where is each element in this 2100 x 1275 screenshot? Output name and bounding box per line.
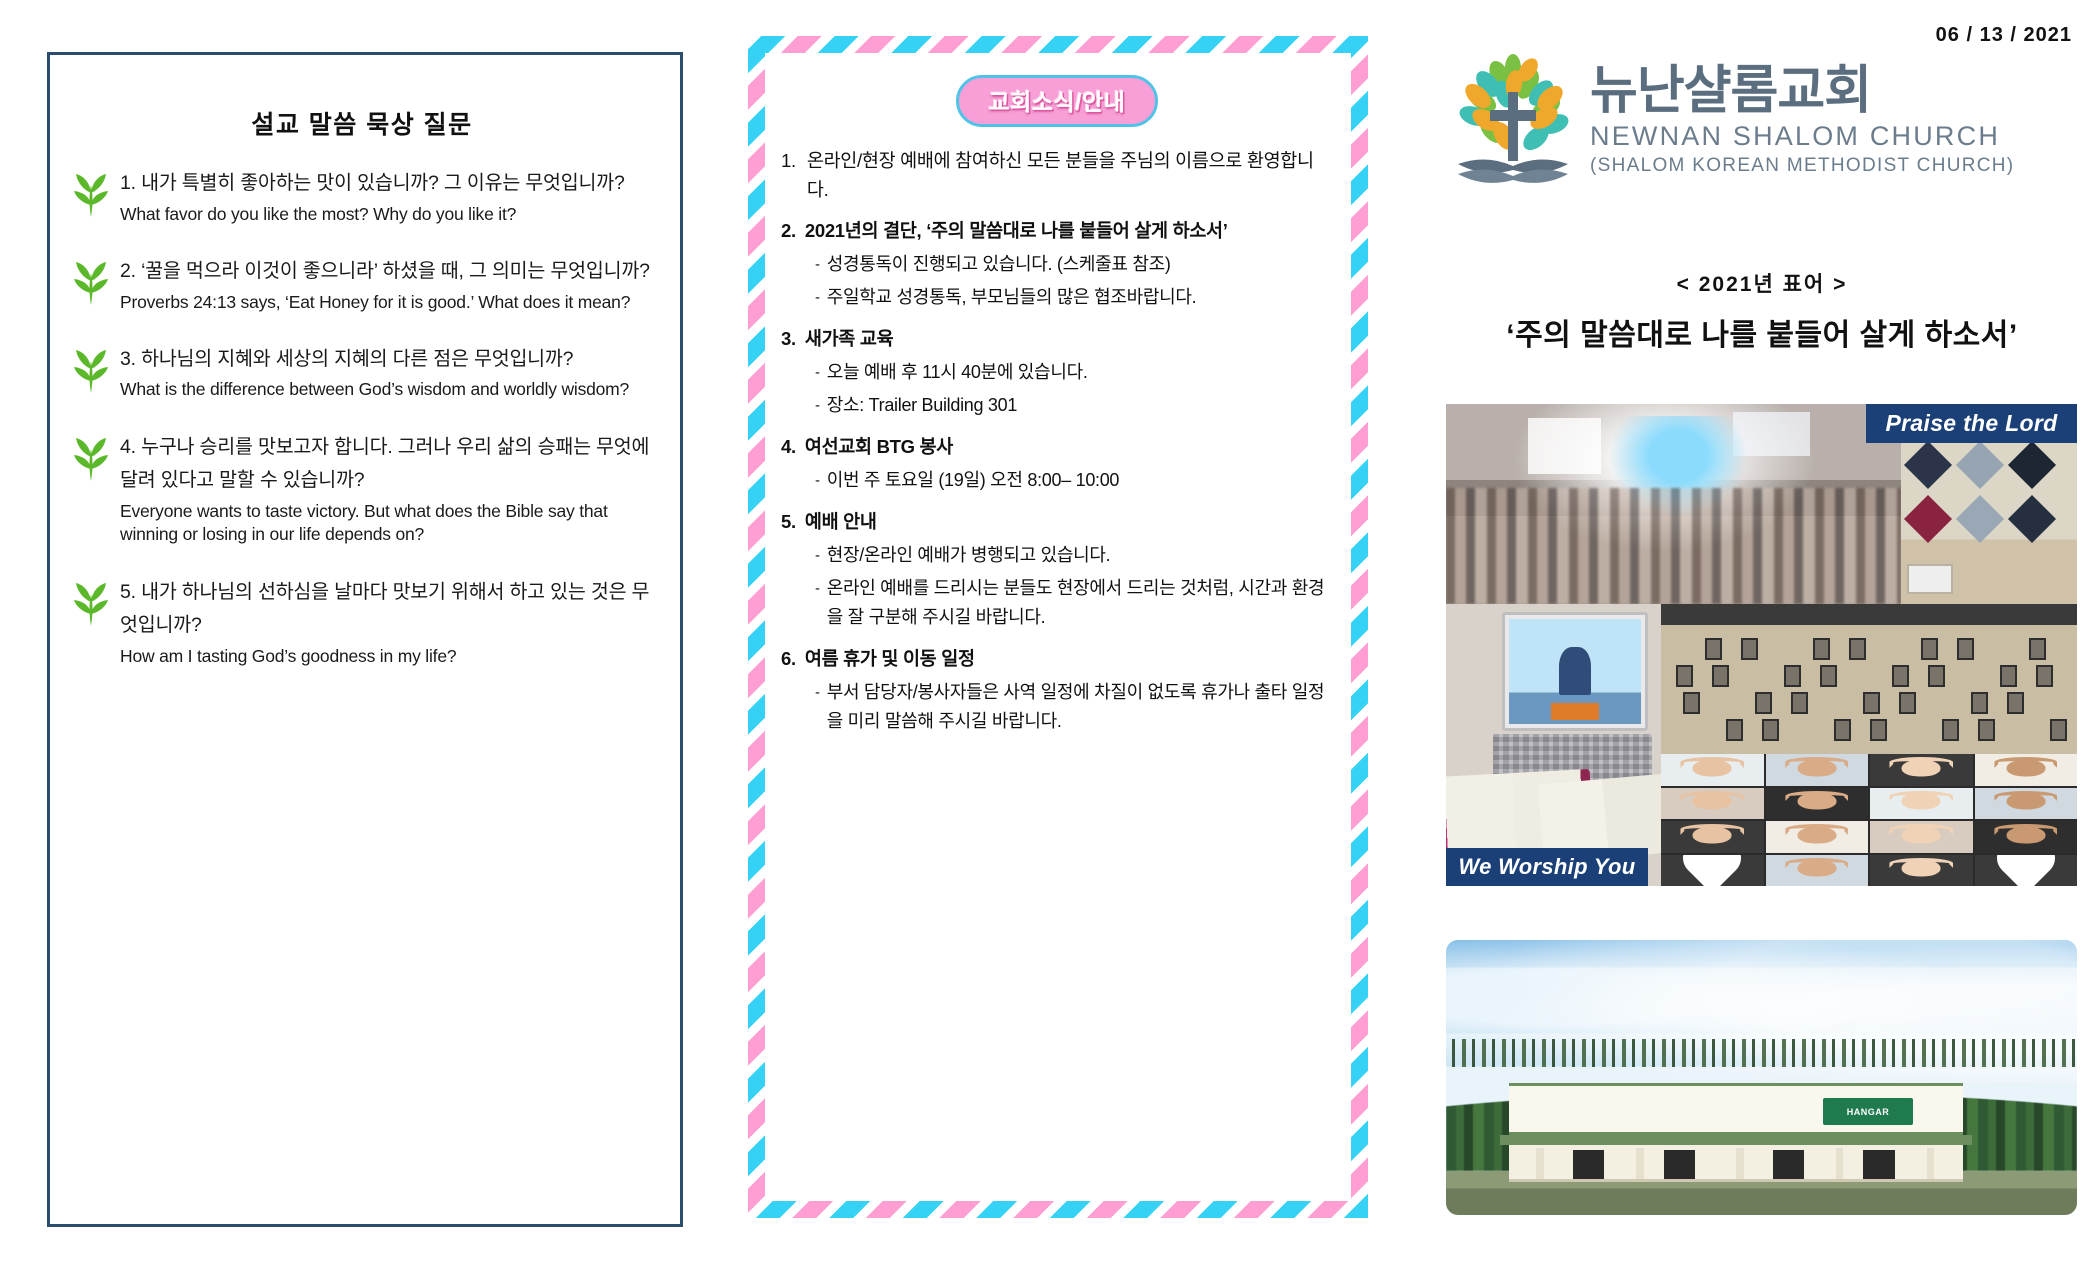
- church-logo-row: 뉴난샬롬교회 NEWNAN SHALOM CHURCH (SHALOM KORE…: [1442, 48, 2014, 190]
- folding-chair: [2036, 665, 2053, 687]
- announcement-subitem-text: 온라인 예배를 드리시는 분들도 현장에서 드리는 것처럼, 시간과 환경을 잘…: [827, 574, 1333, 632]
- question-en: Everyone wants to taste victory. But wha…: [120, 500, 654, 547]
- leaf-sprig-icon: [70, 343, 116, 393]
- question-body: 1. 내가 특별히 좋아하는 맛이 있습니까? 그 이유는 무엇입니까?What…: [116, 167, 654, 226]
- zoom-participant-tile: [1975, 754, 2078, 786]
- gym-wall-diamond: [2008, 441, 2056, 489]
- question-body: 5. 내가 하나님의 선하심을 날마다 맛보기 위해서 하고 있는 것은 무엇입…: [116, 576, 654, 669]
- announcement-heading: 6.여름 휴가 및 이동 일정: [781, 645, 1333, 674]
- zoom-participant-tile: [1975, 788, 2078, 820]
- question-ko: 2. ‘꿀을 먹으라 이것이 좋으니라’ 하셨을 때, 그 의미는 무엇입니까?: [120, 255, 654, 289]
- bulletin-page: 설교 말씀 묵상 질문 1. 내가 특별히 좋아하는 맛이 있습니까? 그 이유…: [0, 0, 2100, 1275]
- announcement-heading-text: 예배 안내: [805, 508, 1333, 537]
- leaf-sprig-icon: [70, 255, 116, 305]
- porch-post: [1736, 1148, 1743, 1179]
- porch-post: [1536, 1148, 1543, 1179]
- photo-gym-wall: [1901, 434, 2077, 604]
- folding-chair: [1863, 692, 1880, 714]
- dash-marker: -: [815, 541, 827, 570]
- participant-face: [2006, 793, 2045, 810]
- meditation-panel: 설교 말씀 묵상 질문 1. 내가 특별히 좋아하는 맛이 있습니까? 그 이유…: [47, 52, 683, 1227]
- folding-chair: [1892, 665, 1909, 687]
- building-door: [1863, 1150, 1895, 1179]
- meditation-title: 설교 말씀 묵상 질문: [70, 105, 654, 141]
- laptop-lid: [1502, 612, 1648, 730]
- zoom-participant-tile: [1870, 788, 1973, 820]
- zoom-participant-tile: [1661, 821, 1764, 853]
- announcement-number: 2.: [781, 217, 805, 246]
- meditation-question-list: 1. 내가 특별히 좋아하는 맛이 있습니까? 그 이유는 무엇입니까?What…: [70, 167, 654, 668]
- zoom-participant-tile: [1661, 754, 1764, 786]
- announcement-subitem-text: 현장/온라인 예배가 병행되고 있습니다.: [827, 541, 1333, 570]
- building-door: [1573, 1150, 1605, 1179]
- folding-chair: [1741, 638, 1758, 660]
- question-en: How am I tasting God’s goodness in my li…: [120, 645, 654, 668]
- meditation-question: 1. 내가 특별히 좋아하는 맛이 있습니까? 그 이유는 무엇입니까?What…: [70, 167, 654, 226]
- folding-chair: [1820, 665, 1837, 687]
- announcement-subitem: -장소: Trailer Building 301: [781, 391, 1333, 420]
- preacher-figure: [1559, 647, 1591, 695]
- question-body: 3. 하나님의 지혜와 세상의 지혜의 다른 점은 무엇입니까?What is …: [116, 343, 654, 402]
- announcement-subitem: -부서 담당자/봉사자들은 사역 일정에 차질이 없도록 휴가나 출타 일정을 …: [781, 678, 1333, 736]
- announcement-subitem: -주일학교 성경통독, 부모님들의 많은 협조바랍니다.: [781, 283, 1333, 312]
- question-ko: 1. 내가 특별히 좋아하는 맛이 있습니까? 그 이유는 무엇입니까?: [120, 167, 654, 201]
- leaf-sprig-icon: [70, 167, 116, 217]
- folding-chair: [1834, 719, 1851, 741]
- announcement-number: 6.: [781, 645, 805, 674]
- gym-wall-diamond: [2008, 495, 2056, 543]
- announcement-heading: 5.예배 안내: [781, 508, 1333, 537]
- photo-distanced-seating: [1661, 604, 2077, 754]
- folding-chair: [1813, 638, 1830, 660]
- participant-face: [1693, 826, 1732, 843]
- participant-face: [1902, 826, 1941, 843]
- leaf-sprig-icon: [70, 576, 116, 626]
- pulpit: [1551, 703, 1599, 720]
- participant-face: [1902, 759, 1941, 776]
- announcement-heading: 1.온라인/현장 예배에 참여하신 모든 분들을 주님의 이름으로 환영합니다.: [781, 147, 1333, 204]
- leaf-sprig-icon: [70, 431, 116, 481]
- gym-wall-diamond: [1904, 495, 1952, 543]
- announcement-subitem-text: 부서 담당자/봉사자들은 사역 일정에 차질이 없도록 휴가나 출타 일정을 미…: [827, 678, 1333, 736]
- porch-post: [1636, 1148, 1643, 1179]
- announcement-subitem: -성경통독이 진행되고 있습니다. (스케줄표 참조): [781, 250, 1333, 279]
- folding-chair: [1870, 719, 1887, 741]
- photo-laptop-and-bible: [1446, 604, 1661, 886]
- announcement-subitem-text: 장소: Trailer Building 301: [827, 391, 1333, 420]
- announcement-subitem: -현장/온라인 예배가 병행되고 있습니다.: [781, 541, 1333, 570]
- announcements-panel: 교회소식/안내 1.온라인/현장 예배에 참여하신 모든 분들을 주님의 이름으…: [748, 36, 1368, 1218]
- photo-church-building: HANGAR: [1446, 940, 2077, 1215]
- question-body: 4. 누구나 승리를 맛보고자 합니다. 그러나 우리 삶의 승패는 무엇에 달…: [116, 431, 654, 547]
- zoom-participant-tile: [1870, 855, 1973, 887]
- zoom-participant-tile: [1766, 788, 1869, 820]
- question-ko: 5. 내가 하나님의 선하심을 날마다 맛보기 위해서 하고 있는 것은 무엇입…: [120, 576, 654, 643]
- church-name-ko: 뉴난샬롬교회: [1590, 65, 2014, 118]
- folding-chair: [1755, 692, 1772, 714]
- bulletin-date: 06 / 13 / 2021: [1936, 24, 2072, 47]
- folding-chair: [1762, 719, 1779, 741]
- building-facade: HANGAR: [1509, 1083, 1963, 1182]
- participant-face: [1797, 793, 1836, 810]
- participant-face: [1693, 793, 1732, 810]
- question-ko: 3. 하나님의 지혜와 세상의 지혜의 다른 점은 무엇입니까?: [120, 343, 654, 377]
- announcement-subitem-text: 주일학교 성경통독, 부모님들의 많은 협조바랍니다.: [827, 283, 1333, 312]
- porch-post: [1927, 1148, 1934, 1179]
- dash-marker: -: [815, 283, 827, 312]
- banner-we-worship-you: We Worship You: [1446, 848, 1648, 886]
- meditation-question: 3. 하나님의 지혜와 세상의 지혜의 다른 점은 무엇입니까?What is …: [70, 343, 654, 402]
- announcement-heading-text: 2021년의 결단, ‘주의 말씀대로 나를 붙들어 살게 하소서’: [805, 217, 1333, 246]
- participant-face: [1797, 826, 1836, 843]
- question-ko: 4. 누구나 승리를 맛보고자 합니다. 그러나 우리 삶의 승패는 무엇에 달…: [120, 431, 654, 498]
- zoom-participant-tile: [1870, 821, 1973, 853]
- banner-praise-the-lord: Praise the Lord: [1866, 404, 2077, 443]
- motto-text: ‘주의 말씀대로 나를 붙들어 살게 하소서’: [1424, 310, 2100, 354]
- photo-collage: Praise the Lord We Worship You: [1446, 404, 2077, 886]
- masthead-column: 06 / 13 / 2021: [1424, 0, 2100, 1275]
- announcement-item: 4.여선교회 BTG 봉사-이번 주 토요일 (19일) 오전 8:00– 10…: [781, 433, 1333, 495]
- laptop-screen: [1509, 619, 1641, 723]
- folding-chair: [2050, 719, 2067, 741]
- announcement-heading: 4.여선교회 BTG 봉사: [781, 433, 1333, 462]
- congregation-crowd: [1446, 488, 1901, 604]
- dash-marker: -: [815, 574, 827, 632]
- announcements-badge-wrap: 교회소식/안내: [781, 75, 1333, 127]
- announcement-heading-text: 여선교회 BTG 봉사: [805, 433, 1333, 462]
- zoom-participant-tile: [1975, 821, 2078, 853]
- folding-chair: [1683, 692, 1700, 714]
- announcement-item: 3.새가족 교육-오늘 예배 후 11시 40분에 있습니다.-장소: Trai…: [781, 325, 1333, 420]
- announcement-heading: 2.2021년의 결단, ‘주의 말씀대로 나를 붙들어 살게 하소서’: [781, 217, 1333, 246]
- dash-marker: -: [815, 391, 827, 420]
- folding-chair: [1978, 719, 1995, 741]
- gym-wall-diamond: [1956, 441, 2004, 489]
- announcement-number: 3.: [781, 325, 805, 354]
- participant-face: [1797, 759, 1836, 776]
- basketball-hoop: [1907, 564, 1953, 594]
- announcement-subitem-text: 이번 주 토요일 (19일) 오전 8:00– 10:00: [827, 466, 1333, 495]
- dash-marker: -: [815, 678, 827, 736]
- folding-chair: [1791, 692, 1808, 714]
- announcement-number: 1.: [781, 147, 807, 204]
- folding-chair: [1942, 719, 1959, 741]
- gym-wall-diamond: [1904, 441, 1952, 489]
- zoom-participant-tile: [1975, 855, 2078, 887]
- announcement-list: 1.온라인/현장 예배에 참여하신 모든 분들을 주님의 이름으로 환영합니다.…: [781, 147, 1333, 736]
- participant-face: [2006, 759, 2045, 776]
- photo-congregation-worship: [1446, 404, 1901, 604]
- announcement-subitem: -온라인 예배를 드리시는 분들도 현장에서 드리는 것처럼, 시간과 환경을 …: [781, 574, 1333, 632]
- folding-chair: [2029, 638, 2046, 660]
- projector-screen: [1528, 418, 1601, 474]
- announcements-badge: 교회소식/안내: [956, 75, 1159, 127]
- meditation-question: 5. 내가 하나님의 선하심을 날마다 맛보기 위해서 하고 있는 것은 무엇입…: [70, 576, 654, 669]
- church-name-en: NEWNAN SHALOM CHURCH: [1590, 121, 2014, 153]
- zoom-participant-tile: [1870, 754, 1973, 786]
- announcement-item: 2.2021년의 결단, ‘주의 말씀대로 나를 붙들어 살게 하소서’-성경통…: [781, 217, 1333, 312]
- heart-shape-icon: [2002, 855, 2050, 887]
- gym-wall-diamond: [1956, 495, 2004, 543]
- question-en: What favor do you like the most? Why do …: [120, 203, 654, 226]
- folding-chair: [1705, 638, 1722, 660]
- announcement-subitem-text: 성경통독이 진행되고 있습니다. (스케줄표 참조): [827, 250, 1333, 279]
- church-name-block: 뉴난샬롬교회 NEWNAN SHALOM CHURCH (SHALOM KORE…: [1584, 61, 2014, 178]
- announcement-heading-text: 여름 휴가 및 이동 일정: [805, 645, 1333, 674]
- zoom-participant-tile: [1661, 855, 1764, 887]
- participant-face: [1797, 860, 1836, 877]
- building-roofline: [1500, 1135, 1972, 1146]
- zoom-participant-tile: [1661, 788, 1764, 820]
- announcement-subitem-text: 오늘 예배 후 11시 40분에 있습니다.: [827, 358, 1333, 387]
- announcement-heading: 3.새가족 교육: [781, 325, 1333, 354]
- announcement-number: 5.: [781, 508, 805, 537]
- heart-shape-icon: [1688, 855, 1736, 887]
- question-body: 2. ‘꿀을 먹으라 이것이 좋으니라’ 하셨을 때, 그 의미는 무엇입니까?…: [116, 255, 654, 314]
- tree-cross-bible-logo-icon: [1442, 48, 1584, 190]
- announcement-item: 6.여름 휴가 및 이동 일정-부서 담당자/봉사자들은 사역 일정에 차질이 …: [781, 645, 1333, 736]
- announcement-heading-text: 새가족 교육: [805, 325, 1333, 354]
- building-door: [1773, 1150, 1805, 1179]
- folding-chair: [1957, 638, 1974, 660]
- folding-chair: [2000, 665, 2017, 687]
- folding-chair: [1676, 665, 1693, 687]
- meditation-question: 4. 누구나 승리를 맛보고자 합니다. 그러나 우리 삶의 승패는 무엇에 달…: [70, 431, 654, 547]
- folding-chair: [1726, 719, 1743, 741]
- announcement-subitem: -오늘 예배 후 11시 40분에 있습니다.: [781, 358, 1333, 387]
- porch-post: [1836, 1148, 1843, 1179]
- question-en: What is the difference between God’s wis…: [120, 378, 654, 401]
- zoom-participant-tile: [1766, 821, 1869, 853]
- dash-marker: -: [815, 466, 827, 495]
- folding-chair: [1712, 665, 1729, 687]
- announcement-heading-text: 온라인/현장 예배에 참여하신 모든 분들을 주님의 이름으로 환영합니다.: [807, 147, 1333, 204]
- folding-chair: [1928, 665, 1945, 687]
- participant-face: [2006, 826, 2045, 843]
- dash-marker: -: [815, 358, 827, 387]
- meditation-question: 2. ‘꿀을 먹으라 이것이 좋으니라’ 하셨을 때, 그 의미는 무엇입니까?…: [70, 255, 654, 314]
- dash-marker: -: [815, 250, 827, 279]
- question-en: Proverbs 24:13 says, ‘Eat Honey for it i…: [120, 291, 654, 314]
- folding-chair: [1971, 692, 1988, 714]
- announcements-inner: 교회소식/안내 1.온라인/현장 예배에 참여하신 모든 분들을 주님의 이름으…: [765, 53, 1351, 1201]
- photo-zoom-video-grid: [1661, 754, 2077, 886]
- zoom-participant-tile: [1766, 754, 1869, 786]
- folding-chair: [2007, 692, 2024, 714]
- hangar-sign: HANGAR: [1823, 1098, 1914, 1125]
- building-door: [1664, 1150, 1696, 1179]
- announcement-subitem: -이번 주 토요일 (19일) 오전 8:00– 10:00: [781, 466, 1333, 495]
- participant-face: [1693, 759, 1732, 776]
- folding-chair: [1899, 692, 1916, 714]
- zoom-participant-tile: [1766, 855, 1869, 887]
- announcement-item: 1.온라인/현장 예배에 참여하신 모든 분들을 주님의 이름으로 환영합니다.: [781, 147, 1333, 204]
- motto-year-label: < 2021년 표어 >: [1424, 268, 2100, 298]
- participant-face: [1902, 793, 1941, 810]
- participant-face: [1902, 860, 1941, 877]
- folding-chair: [1921, 638, 1938, 660]
- folding-chair: [1784, 665, 1801, 687]
- folding-chair: [1849, 638, 1866, 660]
- church-affiliation-en: (SHALOM KOREAN METHODIST CHURCH): [1590, 155, 2014, 178]
- announcement-item: 5.예배 안내-현장/온라인 예배가 병행되고 있습니다.-온라인 예배를 드리…: [781, 508, 1333, 632]
- announcement-number: 4.: [781, 433, 805, 462]
